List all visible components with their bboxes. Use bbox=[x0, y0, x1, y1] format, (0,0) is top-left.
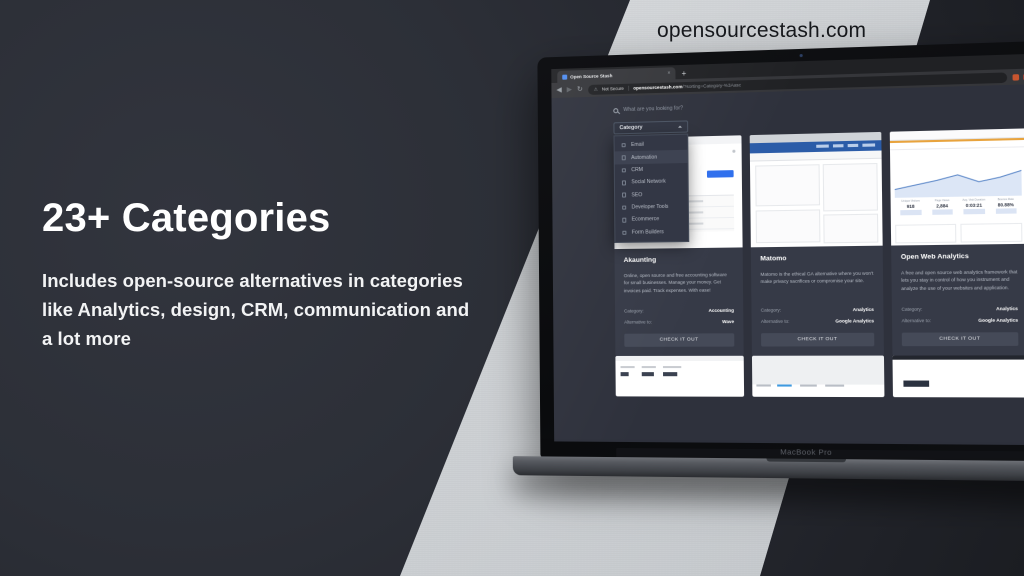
dashboard-screenshot bbox=[752, 356, 885, 398]
option-label: Social Network bbox=[631, 179, 665, 186]
dashboard-screenshot bbox=[615, 356, 744, 397]
card-category-row: Category: Analytics bbox=[761, 307, 874, 313]
card-title: Open Web Analytics bbox=[901, 252, 1017, 261]
browser-window: Open Source Stash × + ◀ ▶ ↻ ⚠ Not Secure… bbox=[551, 53, 1024, 446]
dashboard-screenshot bbox=[892, 355, 1024, 397]
category-filter-button[interactable]: Category bbox=[613, 120, 688, 134]
subcopy: Includes open-source alternatives in cat… bbox=[42, 267, 472, 354]
checkbox-icon[interactable] bbox=[622, 193, 626, 198]
category-filter-label: Category bbox=[619, 125, 642, 132]
close-tab-icon[interactable]: × bbox=[667, 71, 670, 76]
url-separator: | bbox=[628, 85, 629, 91]
checkbox-icon[interactable] bbox=[622, 156, 626, 161]
kpi-label: Avg. Visit Duration bbox=[958, 198, 990, 202]
card-row2-2[interactable] bbox=[752, 356, 885, 398]
card-alternative-row: Alternative to: Google Analytics bbox=[761, 318, 874, 324]
alternative-label: Alternative to: bbox=[902, 318, 931, 323]
kpi-label: Unique Visitors bbox=[895, 199, 926, 203]
card-thumbnail bbox=[892, 355, 1024, 397]
card-matomo[interactable]: Matomo Matomo is the ethical GA alternat… bbox=[750, 132, 884, 356]
card-category-row: Category: Accounting bbox=[624, 308, 734, 314]
reload-icon[interactable]: ↻ bbox=[577, 86, 583, 93]
dropdown-option[interactable]: Form Builders bbox=[615, 225, 688, 239]
option-label: Automation bbox=[631, 154, 657, 161]
webcam-icon bbox=[800, 54, 803, 57]
option-label: Form Builders bbox=[632, 229, 664, 236]
option-label: Email bbox=[631, 142, 644, 148]
category-dropdown[interactable]: Email Automation CRM bbox=[614, 134, 690, 243]
option-label: SEO bbox=[631, 192, 642, 198]
card-description: Online, open source and free accounting … bbox=[624, 271, 734, 302]
category-label: Category: bbox=[761, 307, 781, 312]
checkbox-icon[interactable] bbox=[622, 218, 626, 222]
card-title: Akaunting bbox=[624, 256, 734, 264]
dropdown-option[interactable]: Ecommerce bbox=[615, 213, 688, 227]
category-value: Accounting bbox=[709, 308, 734, 313]
option-label: Developer Tools bbox=[632, 204, 669, 211]
card-thumbnail bbox=[750, 132, 883, 247]
check-it-out-button[interactable]: CHECK IT OUT bbox=[624, 333, 734, 347]
laptop-mockup: Open Source Stash × + ◀ ▶ ↻ ⚠ Not Secure… bbox=[537, 40, 1024, 489]
card-description: Matomo is the ethical GA alternative whe… bbox=[760, 270, 873, 302]
kpi-value: 80.88% bbox=[990, 202, 1022, 208]
alternative-value: Wave bbox=[722, 319, 734, 324]
category-label: Category: bbox=[901, 307, 922, 312]
alternative-label: Alternative to: bbox=[761, 319, 790, 324]
check-it-out-button[interactable]: CHECK IT OUT bbox=[902, 332, 1019, 346]
dropdown-option[interactable]: Developer Tools bbox=[615, 200, 688, 214]
category-value: Analytics bbox=[996, 306, 1018, 311]
search-icon bbox=[613, 108, 618, 113]
card-category-row: Category: Analytics bbox=[901, 306, 1017, 312]
alternative-value: Google Analytics bbox=[835, 318, 874, 323]
laptop-base: MacBook Pro bbox=[513, 456, 1024, 482]
open-web-analytics-dashboard-screenshot: Unique Visitors918 Page Views2,884 Avg. … bbox=[890, 128, 1024, 245]
option-label: Ecommerce bbox=[632, 217, 659, 223]
checkbox-icon[interactable] bbox=[622, 143, 626, 148]
slide-canvas: 23+ Categories Includes open-source alte… bbox=[0, 0, 1024, 576]
checkbox-icon[interactable] bbox=[622, 180, 626, 185]
category-value: Analytics bbox=[853, 307, 874, 312]
matomo-dashboard-screenshot bbox=[750, 132, 883, 247]
checkbox-icon[interactable] bbox=[622, 230, 626, 234]
card-row2-3[interactable] bbox=[892, 355, 1024, 397]
card-thumbnail: Unique Visitors918 Page Views2,884 Avg. … bbox=[890, 128, 1024, 245]
checkbox-icon[interactable] bbox=[622, 168, 626, 173]
kpi-value: 0:03:21 bbox=[958, 202, 990, 208]
card-title: Matomo bbox=[760, 254, 873, 262]
url-text: opensourcestash.com/?sorting=Category-%3… bbox=[633, 82, 741, 90]
card-alternative-row: Alternative to: Google Analytics bbox=[902, 317, 1018, 323]
extensions-tray bbox=[1013, 72, 1024, 80]
category-label: Category: bbox=[624, 308, 644, 313]
favicon-icon bbox=[562, 74, 567, 79]
extension-icon-1[interactable] bbox=[1013, 74, 1020, 80]
card-open-web-analytics[interactable]: Unique Visitors918 Page Views2,884 Avg. … bbox=[890, 128, 1024, 355]
card-description: A free and open source web analytics fra… bbox=[901, 268, 1018, 300]
alternative-value: Google Analytics bbox=[978, 317, 1018, 322]
kpi-value: 2,884 bbox=[926, 203, 958, 209]
alternative-label: Alternative to: bbox=[624, 319, 652, 324]
security-label: Not Secure bbox=[602, 86, 624, 92]
back-icon[interactable]: ◀ bbox=[556, 87, 561, 94]
laptop-lid: Open Source Stash × + ◀ ▶ ↻ ⚠ Not Secure… bbox=[537, 40, 1024, 463]
copy-block: 23+ Categories Includes open-source alte… bbox=[42, 196, 472, 353]
kpi-label: Bounce Rate bbox=[990, 198, 1022, 202]
check-it-out-button[interactable]: CHECK IT OUT bbox=[761, 333, 874, 347]
chevron-up-icon bbox=[678, 126, 682, 128]
category-filter: Category Email Automation bbox=[613, 120, 688, 134]
kpi-label: Page Views bbox=[926, 199, 958, 203]
card-thumbnail bbox=[752, 356, 885, 398]
laptop-notch bbox=[766, 458, 846, 462]
site-url-label: opensourcestash.com bbox=[657, 19, 866, 43]
search-row: What are you looking for? bbox=[552, 92, 1024, 118]
kpi-value: 918 bbox=[895, 204, 927, 210]
option-label: CRM bbox=[631, 167, 643, 173]
new-tab-icon[interactable]: + bbox=[678, 69, 689, 79]
url-domain: opensourcestash.com bbox=[633, 84, 682, 90]
tab-title: Open Source Stash bbox=[570, 71, 664, 79]
card-grid-row-2 bbox=[615, 355, 1024, 398]
headline: 23+ Categories bbox=[42, 196, 472, 241]
forward-icon[interactable]: ▶ bbox=[567, 86, 572, 93]
warning-icon: ⚠ bbox=[594, 86, 598, 92]
search-input[interactable]: What are you looking for? bbox=[623, 105, 683, 113]
site-page: What are you looking for? Category Email bbox=[552, 83, 1024, 445]
url-path: /?sorting=Category-%3Aasc bbox=[682, 82, 741, 89]
card-row2-1[interactable] bbox=[615, 356, 744, 397]
card-alternative-row: Alternative to: Wave bbox=[624, 319, 734, 325]
card-thumbnail bbox=[615, 356, 744, 397]
checkbox-icon[interactable] bbox=[622, 205, 626, 209]
